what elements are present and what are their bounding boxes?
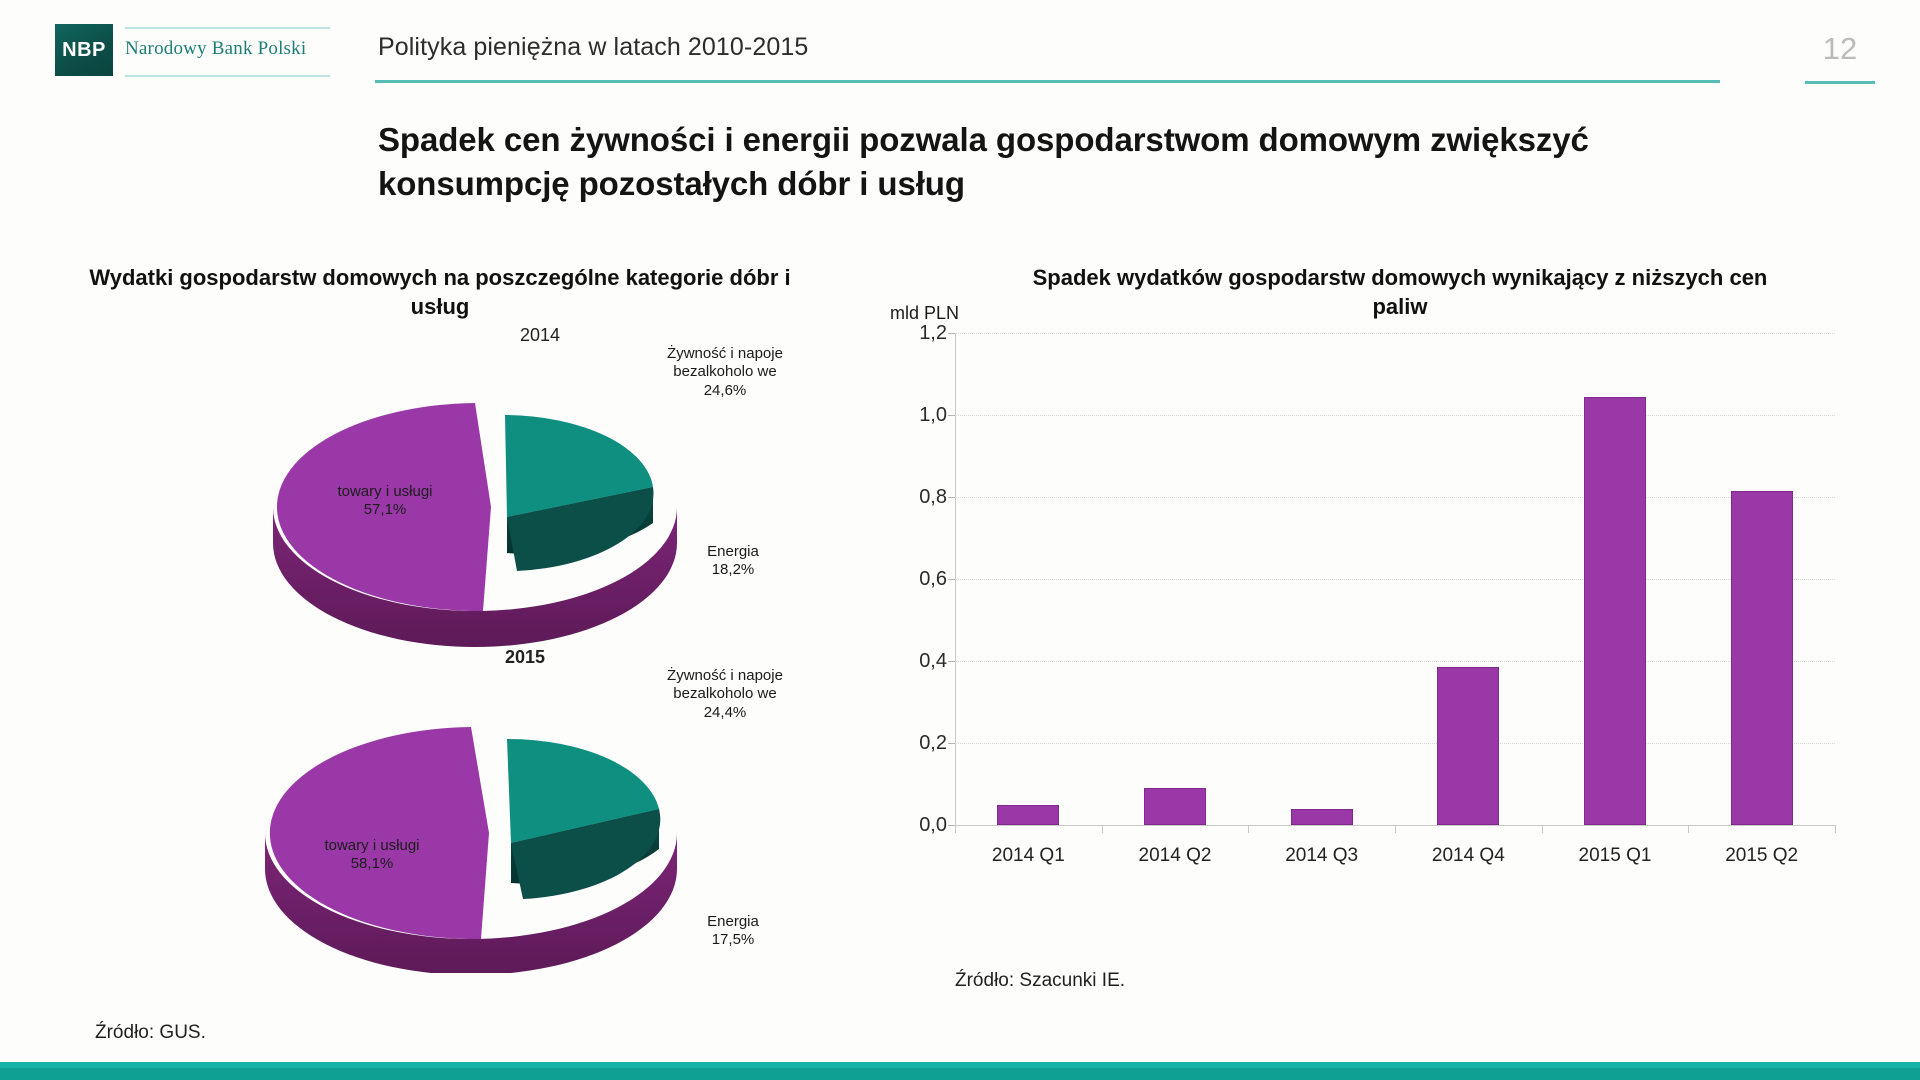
bar-chart-plot-area: 0,00,20,40,60,81,01,2 2014 Q12014 Q22014… (955, 333, 1835, 825)
y-axis-tick-mark (948, 825, 955, 826)
pie-chart-2014: 2014 (40, 333, 870, 663)
x-axis-label: 2015 Q1 (1542, 845, 1689, 867)
x-axis-tick-mark (1688, 825, 1689, 833)
nbp-logo-name: Narodowy Bank Polski (125, 38, 330, 60)
left-chart-subtitle: Wydatki gospodarstw domowych na poszczeg… (60, 263, 820, 322)
x-axis-label: 2014 Q1 (955, 845, 1102, 867)
footer-accent (0, 1068, 1920, 1080)
slide-header: NBP Narodowy Bank Polski Polityka pienię… (0, 0, 1920, 95)
x-axis-tick-mark (1248, 825, 1249, 833)
pie-2014-label-food-text: Żywność i napoje bezalkoholo we (667, 345, 783, 380)
x-axis-tick-mark (1395, 825, 1396, 833)
bar-2015-q1[interactable] (1584, 397, 1646, 825)
bar-chart-plot: 0,00,20,40,60,81,01,2 2014 Q12014 Q22014… (955, 333, 1835, 873)
bar-2014-q1[interactable] (997, 805, 1059, 826)
pie-2015-label-energy: Energia 17,5% (658, 913, 808, 950)
y-axis-tick-label: 0,0 (891, 814, 947, 837)
left-source-note: Źródło: GUS. (95, 1022, 206, 1044)
y-axis-tick-label: 0,8 (891, 486, 947, 509)
x-axis-label: 2014 Q2 (1102, 845, 1249, 867)
pie-2015-value-goods: 58,1% (351, 855, 394, 872)
pie-2014-year-label: 2014 (480, 325, 600, 346)
pie-2015-label-goods: towary i usługi 58,1% (302, 837, 442, 874)
x-axis-tick-mark (1542, 825, 1543, 833)
pie-2014-value-energy: 18,2% (712, 561, 755, 578)
y-axis-tick-mark (948, 661, 955, 662)
right-chart-panel: Spadek wydatków gospodarstw domowych wyn… (900, 255, 1890, 1045)
x-axis-label: 2014 Q3 (1248, 845, 1395, 867)
header-divider (375, 80, 1720, 83)
nbp-logo: NBP (55, 24, 113, 76)
gridline (955, 333, 1835, 334)
logo-rule-top (125, 27, 330, 29)
y-axis-tick-label: 0,6 (891, 568, 947, 591)
x-axis-tick-mark (1102, 825, 1103, 833)
pie-2015-year-label: 2015 (465, 647, 585, 668)
x-axis-label: 2015 Q2 (1688, 845, 1835, 867)
pie-2014-value-goods: 57,1% (364, 501, 407, 518)
y-axis-tick-mark (948, 743, 955, 744)
gridline (955, 415, 1835, 416)
header-title: Polityka pieniężna w latach 2010-2015 (378, 33, 808, 62)
y-axis-tick-label: 0,2 (891, 732, 947, 755)
x-axis-label: 2014 Q4 (1395, 845, 1542, 867)
right-source-note: Źródło: Szacunki IE. (955, 970, 1125, 992)
left-chart-panel: Wydatki gospodarstw domowych na poszczeg… (40, 255, 870, 1045)
bar-2015-q2[interactable] (1731, 491, 1793, 825)
pie-2014-label-energy: Energia 18,2% (658, 543, 808, 580)
logo-rule-bottom (125, 75, 330, 77)
y-axis-tick-mark (948, 497, 955, 498)
pie-2014-label-goods: towary i usługi 57,1% (315, 483, 455, 520)
y-axis-tick-mark (948, 333, 955, 334)
pie-2014-value-food: 24,6% (704, 382, 747, 399)
gridline (955, 743, 1835, 744)
pie-2015-label-food: Żywność i napoje bezalkoholo we 24,4% (640, 667, 810, 722)
bar-2014-q2[interactable] (1144, 788, 1206, 825)
y-axis-tick-mark (948, 579, 955, 580)
y-axis-tick-label: 0,4 (891, 650, 947, 673)
pie-2015-value-energy: 17,5% (712, 931, 755, 948)
gridline (955, 661, 1835, 662)
gridline (955, 497, 1835, 498)
pie-2014-label-food: Żywność i napoje bezalkoholo we 24,6% (640, 345, 810, 400)
page-number-divider (1805, 81, 1875, 84)
bar-chart-axis-unit: mld PLN (890, 303, 959, 324)
right-chart-subtitle: Spadek wydatków gospodarstw domowych wyn… (1020, 263, 1780, 322)
bar-2014-q4[interactable] (1437, 667, 1499, 825)
pie-2014-label-goods-text: towary i usługi (337, 483, 432, 500)
pie-2015-label-goods-text: towary i usługi (324, 837, 419, 854)
pie-2014-label-energy-text: Energia (707, 543, 759, 560)
y-axis-tick-label: 1,0 (891, 404, 947, 427)
x-axis-tick-mark (1835, 825, 1836, 833)
x-axis-tick-mark (955, 825, 956, 833)
pie-2015-value-food: 24,4% (704, 704, 747, 721)
nbp-logo-abbr: NBP (55, 24, 113, 76)
bar-2014-q3[interactable] (1291, 809, 1353, 825)
pie-chart-2015: 2015 Żywność i napoje bezalkohol (40, 655, 870, 985)
pie-2015-label-energy-text: Energia (707, 913, 759, 930)
gridline (955, 579, 1835, 580)
pie-2015-graphic (255, 693, 725, 973)
slide-title: Spadek cen żywności i energii pozwala go… (378, 118, 1778, 206)
y-axis-tick-label: 1,2 (891, 322, 947, 345)
page-number: 12 (1810, 31, 1870, 67)
pie-2015-label-food-text: Żywność i napoje bezalkoholo we (667, 667, 783, 702)
y-axis-tick-mark (948, 415, 955, 416)
